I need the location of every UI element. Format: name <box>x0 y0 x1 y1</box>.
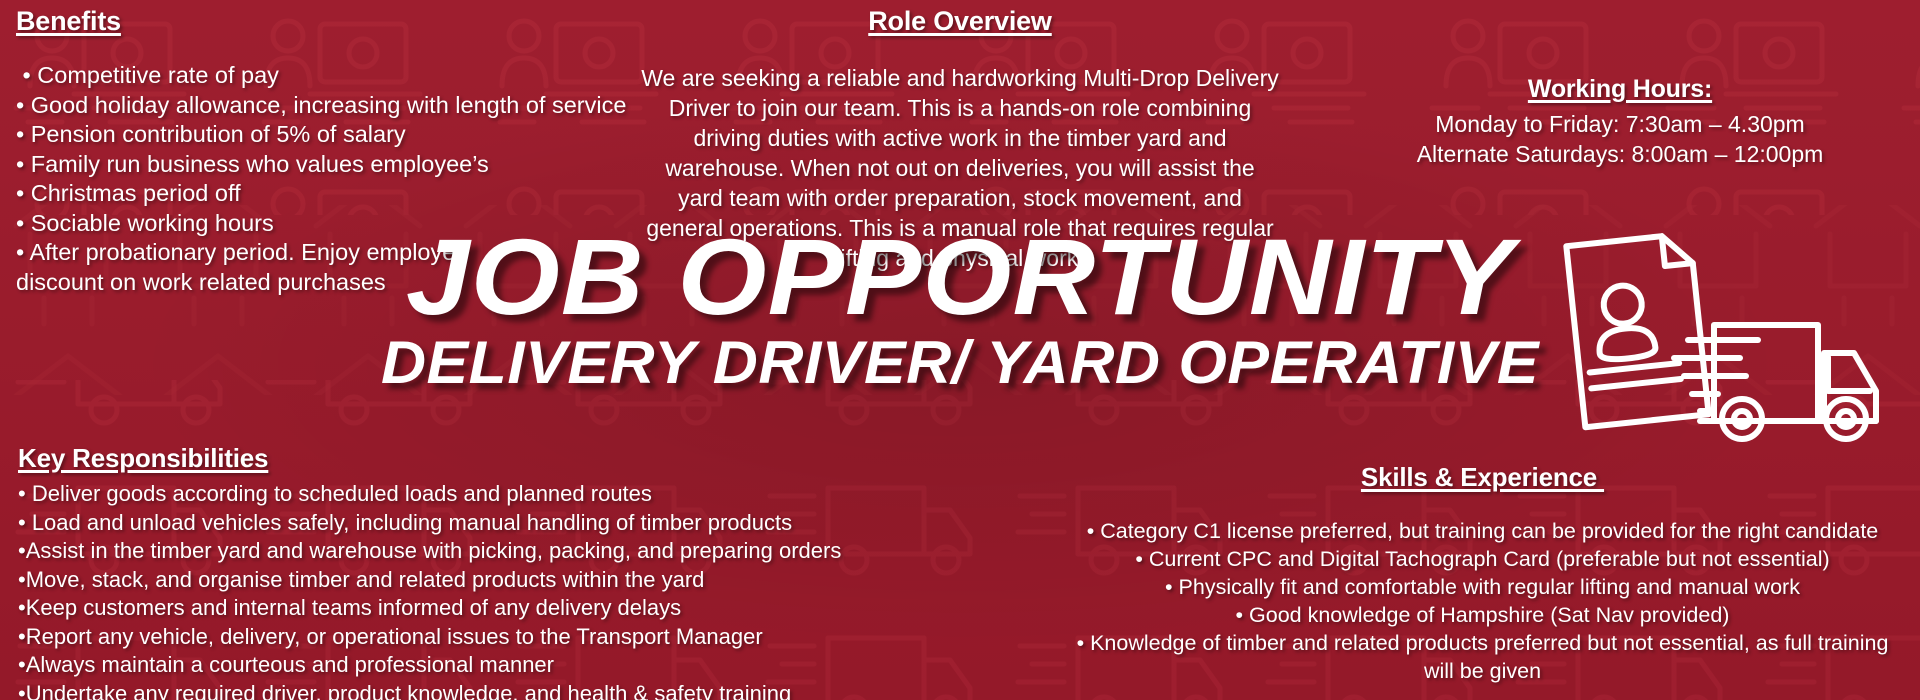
responsibility-item: •Always maintain a courteous and profess… <box>18 651 858 680</box>
responsibility-item: •Undertake any required driver, product … <box>18 680 858 700</box>
responsibility-item: •Move, stack, and organise timber and re… <box>18 566 858 595</box>
role-overview-paragraph: We are seeking a reliable and hardworkin… <box>610 63 1310 273</box>
working-hours-item: Monday to Friday: 7:30am – 4.30pm <box>1320 109 1920 139</box>
benefits-item: • Good holiday allowance, increasing wit… <box>16 91 656 121</box>
role-overview-section: Role Overview We are seeking a reliable … <box>610 6 1310 273</box>
key-responsibilities-section: Key Responsibilities • Deliver goods acc… <box>18 443 858 700</box>
benefits-item: • After probationary period. Enjoy emplo… <box>16 238 486 297</box>
responsibility-item: •Report any vehicle, delivery, or operat… <box>18 623 858 652</box>
skills-experience-heading: Skills & Experience <box>1060 462 1905 493</box>
key-responsibilities-heading: Key Responsibilities <box>18 443 858 474</box>
responsibility-item: •Keep customers and internal teams infor… <box>18 594 858 623</box>
working-hours-item: Alternate Saturdays: 8:00am – 12:00pm <box>1320 139 1920 169</box>
benefits-item: • Christmas period off <box>16 179 656 209</box>
working-hours-section: Working Hours: Monday to Friday: 7:30am … <box>1320 75 1920 169</box>
skill-item: • Knowledge of timber and related produc… <box>1060 629 1905 685</box>
benefits-heading: Benefits <box>16 6 656 37</box>
skills-experience-section: Skills & Experience • Category C1 licens… <box>1060 462 1905 685</box>
role-overview-heading: Role Overview <box>610 6 1310 37</box>
cv-document-and-delivery-truck-icon <box>1540 225 1920 450</box>
benefits-item: • Family run business who values employe… <box>16 150 656 180</box>
benefits-item: • Competitive rate of pay <box>16 61 656 91</box>
skill-item: • Good knowledge of Hampshire (Sat Nav p… <box>1060 601 1905 629</box>
responsibility-item: • Load and unload vehicles safely, inclu… <box>18 509 858 538</box>
skill-item: • Category C1 license preferred, but tra… <box>1060 517 1905 545</box>
benefits-item: • Sociable working hours <box>16 209 656 239</box>
responsibility-item: •Assist in the timber yard and warehouse… <box>18 537 858 566</box>
working-hours-heading: Working Hours: <box>1320 75 1920 104</box>
skill-item: • Physically fit and comfortable with re… <box>1060 573 1905 601</box>
benefits-list: • Competitive rate of pay • Good holiday… <box>16 61 656 297</box>
key-responsibilities-list: • Deliver goods according to scheduled l… <box>18 480 858 700</box>
page-subtitle: DELIVERY DRIVER/ YARD OPERATIVE <box>0 330 1920 396</box>
skill-item: • Current CPC and Digital Tachograph Car… <box>1060 545 1905 573</box>
skills-experience-list: • Category C1 license preferred, but tra… <box>1060 517 1905 685</box>
responsibility-item: • Deliver goods according to scheduled l… <box>18 480 858 509</box>
benefits-section: Benefits • Competitive rate of pay • Goo… <box>16 6 656 297</box>
benefits-item: • Pension contribution of 5% of salary <box>16 120 656 150</box>
working-hours-list: Monday to Friday: 7:30am – 4.30pm Altern… <box>1320 109 1920 169</box>
job-opportunity-poster: Benefits • Competitive rate of pay • Goo… <box>0 0 1920 700</box>
